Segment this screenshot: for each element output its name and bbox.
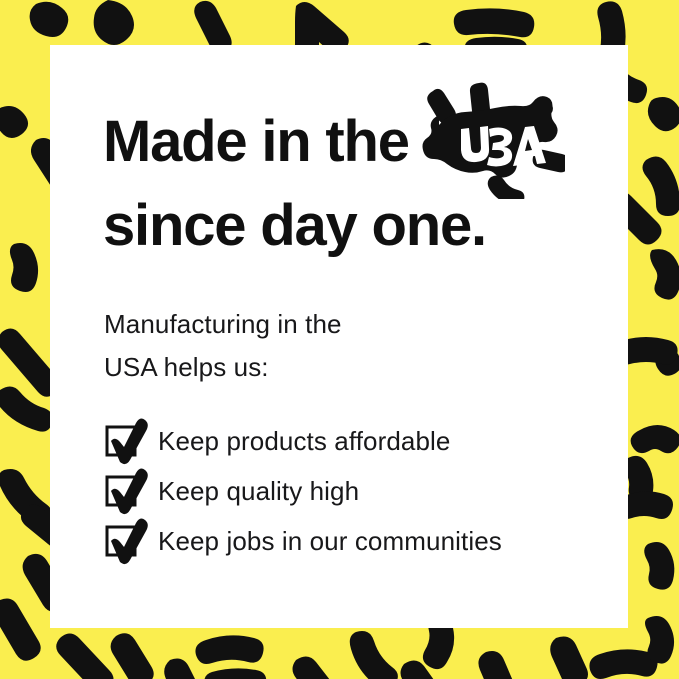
checklist-item: Keep products affordable [104,416,502,466]
headline-line-1-row: Made in the [103,100,603,184]
subcopy-block: Manufacturing in the USA helps us: [104,303,342,389]
checkbox-checked-icon [104,420,142,458]
benefits-checklist: Keep products affordable Keep quality hi… [104,416,502,566]
checkbox-checked-icon [104,520,142,558]
checkbox-checked-icon [104,470,142,508]
headline-line-1: Made in the [103,100,409,184]
checklist-item: Keep jobs in our communities [104,516,502,566]
content-card: Made in the [50,45,628,628]
checklist-item-label: Keep quality high [158,476,359,506]
checklist-item-label: Keep jobs in our communities [158,526,502,556]
usa-map-icon [417,81,565,199]
checklist-item-label: Keep products affordable [158,426,450,456]
subcopy-line-2: USA helps us: [104,346,342,389]
subcopy-line-1: Manufacturing in the [104,303,342,346]
headline-block: Made in the [103,100,603,268]
checklist-item: Keep quality high [104,466,502,516]
made-in-usa-poster: Made in the [0,0,679,679]
